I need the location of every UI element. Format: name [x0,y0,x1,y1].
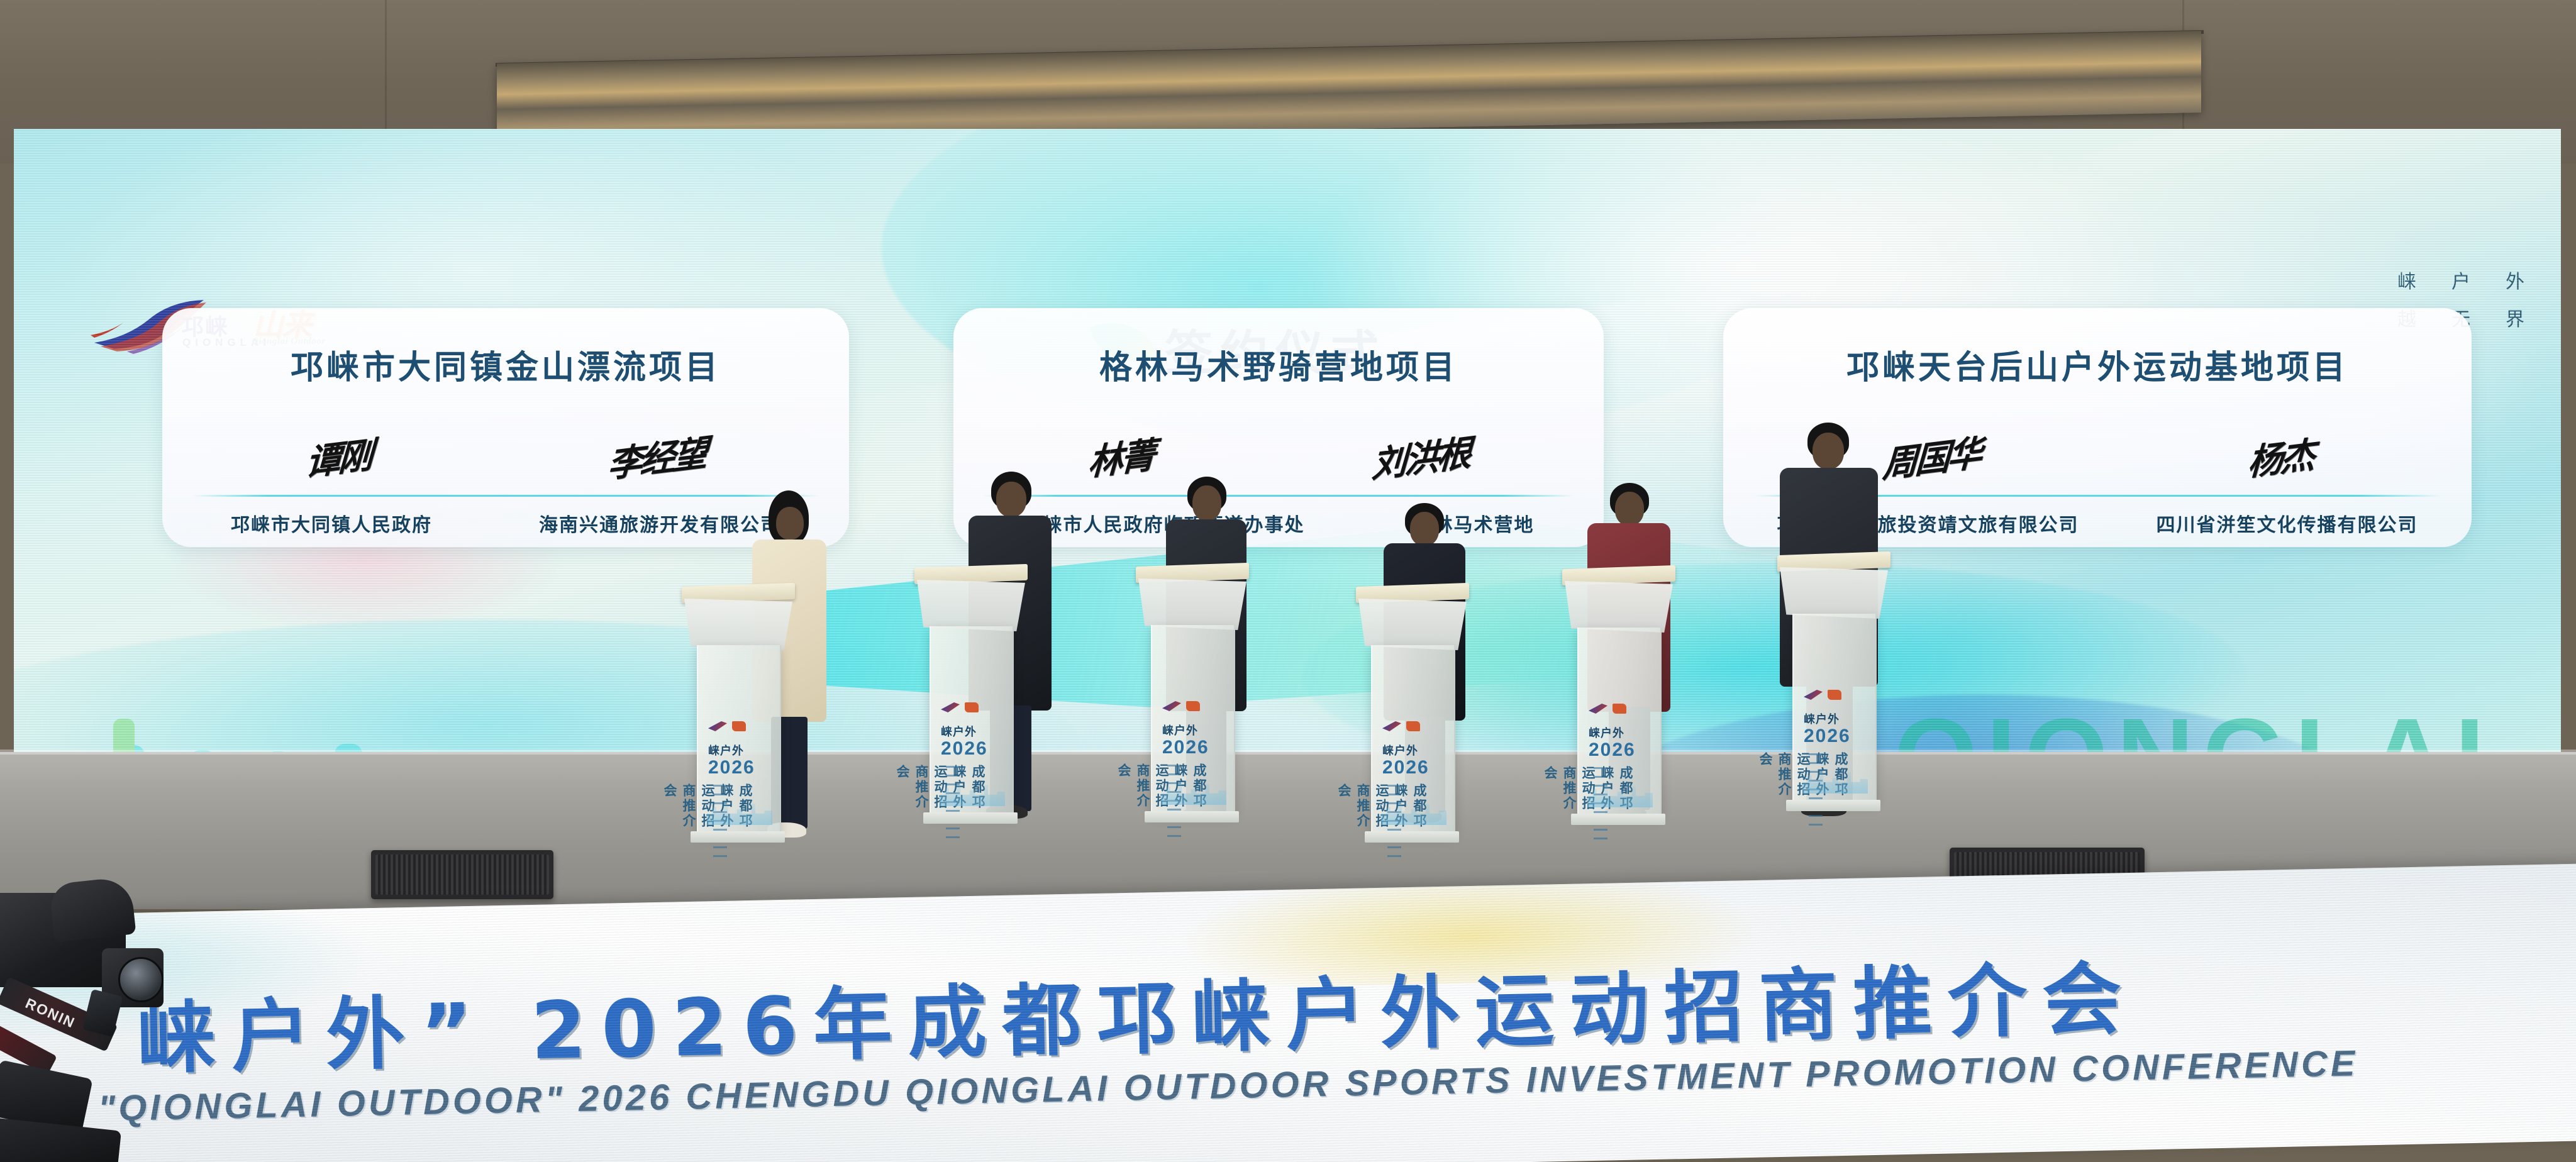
podium-foot [1145,811,1239,822]
outdoor-mark-icon [1406,721,1420,731]
podium-logo [708,719,769,733]
podium-body: 崃户外 2026 成都邛崃户外运动招商推介会 [1792,614,1877,802]
signature-row: 林菁 刘洪根 [979,418,1579,494]
podium-body: 崃户外 2026 成都邛崃户外运动招商推介会 [1577,628,1662,816]
outdoor-mark-icon [1613,704,1626,714]
phoenix-mark-icon [1382,721,1401,731]
event-banner: 崃户外” 2026年成都邛崃户外运动招商推介会 "QIONGLAI OUTDOO… [0,863,2576,1162]
outdoor-mark-icon [965,702,979,712]
podium-slope [1358,599,1467,650]
podium-body: 崃户外 2026 成都邛崃户外运动招商推介会 [1371,645,1455,834]
party-name: 四川省洴笙文化传播有限公司 [2157,509,2418,537]
podium-logo [1804,688,1864,702]
podium-body: 崃户外 2026 成都邛崃户外运动招商推介会 [930,626,1014,815]
podium-logo [1382,719,1443,733]
podium-slope [1780,567,1888,619]
outdoor-mark-icon [1828,690,1841,700]
podium-slope [684,599,792,650]
podium-year: 2026 [1382,757,1430,778]
outdoor-mark-icon [732,721,746,731]
podium-foot [923,812,1018,824]
banner-scanline-overlay [0,863,2576,1162]
podium-body: 崃户外 2026 成都邛崃户外运动招商推介会 [1151,625,1235,814]
camera-hood [49,876,136,942]
slogan-char: 户 [2451,266,2472,294]
phoenix-mark-icon [1162,701,1181,711]
podium-headline: 崃户外 [941,723,977,739]
party-name: 邛崃市大同镇人民政府 [231,509,432,537]
podium-foot [1571,814,1665,825]
podium-year: 2026 [1589,739,1636,761]
podium-foot [691,831,785,843]
podium-year: 2026 [1804,726,1851,747]
slogan-char: 界 [2506,304,2526,331]
panel-title: 邛崃天台后山户外运动基地项目 [1723,341,2472,388]
panel-divider [984,495,1574,497]
podium-headline: 崃户外 [708,742,744,758]
stage-monitor-speaker [371,850,553,899]
signature: 林菁 [1087,426,1155,486]
podium-slope [1138,578,1246,630]
slogan-char: 崃 [2397,266,2418,294]
podium-foot [1786,800,1880,811]
podium-headline: 崃户外 [1162,722,1198,738]
slogan-column-3: 外 界 [2506,266,2526,331]
signature: 谭刚 [304,426,372,486]
podium-year: 2026 [941,738,988,760]
podium-logo [941,700,1001,714]
podium-slope [1565,581,1673,633]
signature: 刘洪根 [1370,424,1470,487]
podium-slope [917,580,1025,631]
podium-headline: 崃户外 [1382,742,1418,758]
podium-body: 崃户外 2026 成都邛崃户外运动招商推介会 [697,645,781,834]
phoenix-mark-icon [941,702,960,712]
outdoor-mark-icon [1186,701,1200,711]
phoenix-mark-icon [1589,704,1607,714]
signature-row: 谭刚 李经望 [187,418,824,494]
gimbal-motor [82,989,123,1037]
panel-title: 格林马术野骑营地项目 [953,341,1604,388]
camera-gimbal-rig: RONIN [0,880,220,1162]
podium-year: 2026 [708,757,755,778]
stage-floor-edge [0,750,2576,755]
conference-stage-photo: QIONGLAI 邛崃 QIONGLAI 山来 Qionglai Outdoor [0,0,2576,1162]
slogan-char: 外 [2506,266,2526,294]
podium-logo [1162,699,1223,713]
podium-year: 2026 [1162,737,1209,758]
panel-divider [192,495,819,497]
podium-foot [1365,831,1459,843]
signature: 杨杰 [2246,426,2314,486]
phoenix-mark-icon [708,721,727,731]
podium-headline: 崃户外 [1589,724,1624,741]
party-row: 邛崃市大同镇人民政府 海南兴通旅游开发有限公司 [177,506,834,541]
signature: 李经望 [606,424,706,487]
podium-headline: 崃户外 [1804,711,1840,727]
panel-title: 邛崃市大同镇金山漂流项目 [162,341,849,388]
signature: 周国华 [1881,424,1981,487]
phoenix-mark-icon [1804,690,1823,700]
podium-logo [1589,702,1649,716]
